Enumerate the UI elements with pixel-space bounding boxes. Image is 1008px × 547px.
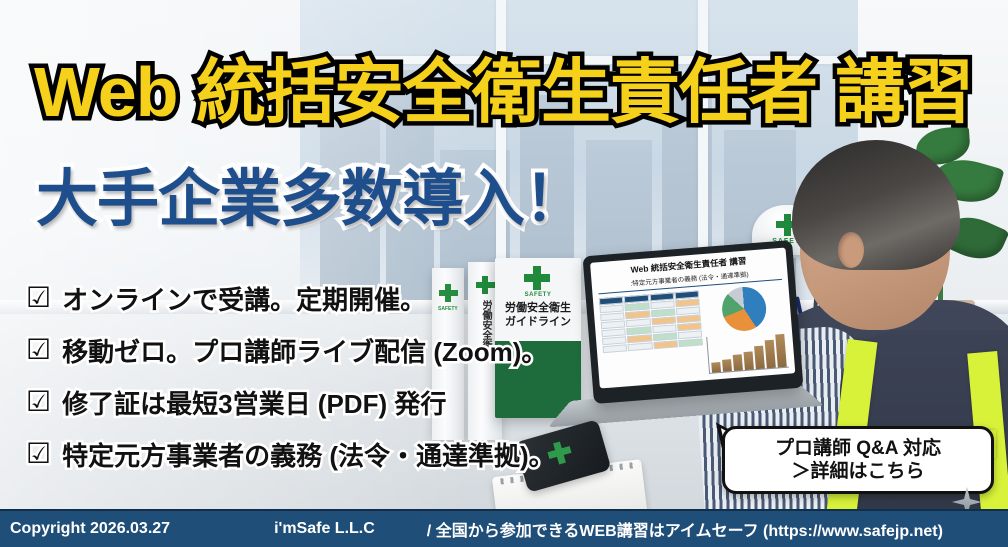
list-item-label: オンラインで受講。定期開催。 [62,280,426,317]
slide-pie-chart [721,286,768,333]
footer-tagline: / 全国から参加できるWEB講習はアイムセーフ (https://www.saf… [427,517,943,541]
checkbox-checked-icon: ☑ [26,284,51,312]
list-item: ☑ 修了証は最短3営業日 (PDF) 発行 [26,376,666,428]
list-item-label: 特定元方事業者の義務 (法令・通達準拠)。 [62,436,555,473]
cta-speech-bubble[interactable]: プロ講師 Q&A 対応 ＞詳細はこちら [722,426,994,494]
list-item-label: 移動ゼロ。プロ講師ライブ配信 (Zoom)。 [62,332,547,369]
checkbox-checked-icon: ☑ [26,388,51,416]
promo-banner: SAFETY SAFETY 労働安全衛生 SAFETY 労働安全衛生 ガ [0,0,1008,547]
checkbox-checked-icon: ☑ [26,440,51,468]
checkbox-checked-icon: ☑ [26,336,51,364]
subtitle-headline: 大手企業多数導入！ [36,148,585,238]
person-ear [838,232,864,268]
footer-copyright: Copyright 2026.03.27 [10,520,170,538]
page-title: Web 統括安全衛生責任者 講習 [34,36,973,137]
feature-list: ☑ オンラインで受講。定期開催。 ☑ 移動ゼロ。プロ講師ライブ配信 (Zoom)… [26,272,666,480]
list-item-label: 修了証は最短3営業日 (PDF) 発行 [62,384,446,421]
slide-charts [703,284,789,374]
slide-bar-chart [706,331,789,374]
cta-line-1: プロ講師 Q&A 対応 [775,437,941,460]
footer-brand: i'mSafe L.L.C [274,520,375,538]
list-item: ☑ 特定元方事業者の義務 (法令・通達準拠)。 [26,428,666,480]
list-item: ☑ 移動ゼロ。プロ講師ライブ配信 (Zoom)。 [26,324,666,376]
list-item: ☑ オンラインで受講。定期開催。 [26,272,666,324]
footer-bar: Copyright 2026.03.27 i'mSafe L.L.C / 全国か… [0,509,1008,547]
cta-line-2: ＞詳細はこちら [791,460,924,483]
